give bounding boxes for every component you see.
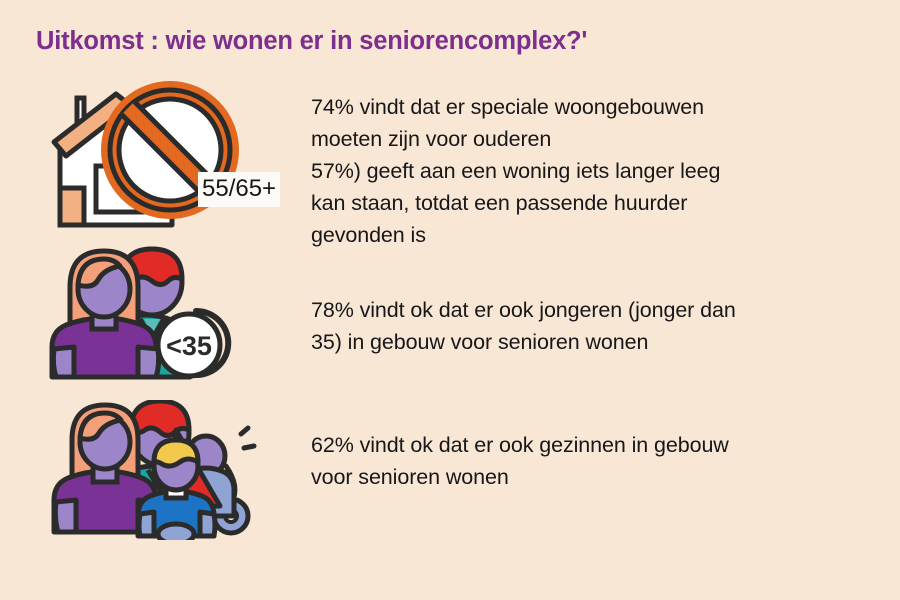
row-young-people: <35 78% vindt ok dat er ook jongeren (jo… (0, 245, 900, 395)
family-with-child-icon (48, 400, 263, 540)
two-people-under-35-icon: <35 (48, 245, 233, 385)
age-badge-55-65: 55/65+ (198, 172, 280, 207)
house-no-entry-icon (48, 80, 248, 235)
text-line: 78% vindt ok dat er ook jongeren (jonger… (311, 294, 871, 326)
text-line: voor senioren wonen (311, 461, 871, 493)
badge-under-35-label: <35 (166, 331, 212, 361)
row-housing: 55/65+ 74% vindt dat er speciale woongeb… (0, 80, 900, 240)
young-people-text-block: 78% vindt ok dat er ook jongeren (jonger… (311, 294, 871, 358)
text-line: 74% vindt dat er speciale woongebouwen (311, 91, 871, 123)
housing-text-block: 74% vindt dat er speciale woongebouwen m… (311, 91, 871, 251)
families-text-block: 62% vindt ok dat er ook gezinnen in gebo… (311, 429, 871, 493)
page-title: Uitkomst : wie wonen er in seniorencompl… (36, 26, 856, 57)
text-line: 35) in gebouw voor senioren wonen (311, 326, 871, 358)
text-line: 57%) geeft aan een woning iets langer le… (311, 155, 871, 187)
slide-canvas: Uitkomst : wie wonen er in seniorencompl… (0, 0, 900, 600)
text-line: kan staan, totdat een passende huurder (311, 187, 871, 219)
row-families: 62% vindt ok dat er ook gezinnen in gebo… (0, 400, 900, 550)
text-line: moeten zijn voor ouderen (311, 123, 871, 155)
text-line: 62% vindt ok dat er ook gezinnen in gebo… (311, 429, 871, 461)
